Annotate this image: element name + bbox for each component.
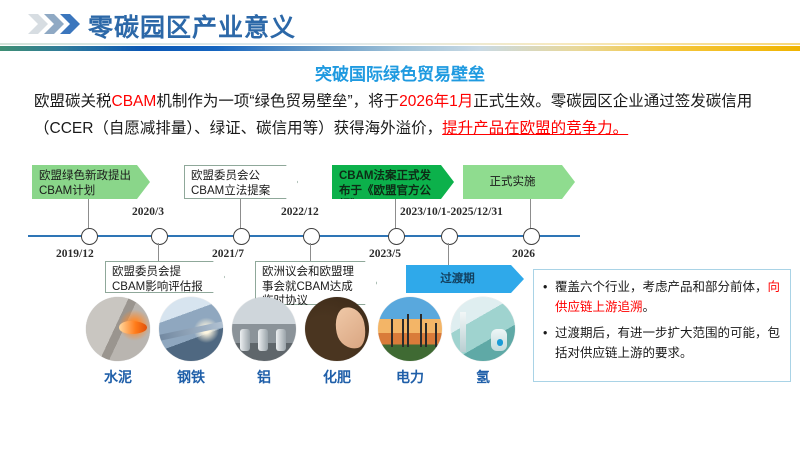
industry-label: 铝 — [222, 367, 306, 387]
timeline-stem — [395, 199, 396, 228]
timeline-callout-above[interactable]: 欧盟绿色新政提出CBAM计划 — [32, 165, 150, 199]
industry-item-fertilizer[interactable]: 化肥 — [305, 297, 369, 361]
bullet-text: 过渡期后，有进一步扩大范围的可能，包括对供应链上游的要求。 — [555, 323, 781, 363]
power-photo-icon — [378, 297, 442, 361]
timeline-node[interactable] — [441, 228, 458, 245]
timeline-stem — [158, 243, 159, 261]
header-divider-thin — [0, 43, 800, 45]
fertilizer-photo-icon — [305, 297, 369, 361]
industry-label: 水泥 — [76, 367, 160, 387]
page-title: 零碳园区产业意义 — [88, 8, 296, 44]
timeline-date: 2026 — [512, 248, 535, 260]
industry-item-power[interactable]: 电力 — [378, 297, 442, 361]
timeline-callout-below[interactable]: 过渡期 — [406, 265, 524, 293]
aluminum-photo-icon — [232, 297, 296, 361]
slide-header: 零碳园区产业意义 — [0, 0, 800, 48]
industry-label: 氢 — [441, 367, 525, 387]
timeline-callout-above[interactable]: 欧盟委员会公CBAM立法提案 — [184, 165, 298, 199]
para-segment-3: 机制作为一项“绿色贸易壁垒”，将于 — [156, 93, 399, 110]
timeline-date: 2022/12 — [281, 206, 319, 218]
bullet-text: 覆盖六个行业，考虑产品和部分前体， — [555, 280, 768, 294]
industry-label: 钢铁 — [149, 367, 233, 387]
industry-item-hydrogen[interactable]: 氢 — [451, 297, 515, 361]
timeline-node[interactable] — [151, 228, 168, 245]
timeline-callout-above[interactable]: 正式实施 — [463, 165, 575, 199]
timeline-stem — [240, 199, 241, 228]
industry-label: 化肥 — [295, 367, 379, 387]
timeline-stem — [530, 199, 531, 228]
timeline-node[interactable] — [388, 228, 405, 245]
timeline-date: 2021/7 — [212, 248, 244, 260]
list-item: • 过渡期后，有进一步扩大范围的可能，包括对供应链上游的要求。 — [543, 323, 781, 363]
timeline-node[interactable] — [303, 228, 320, 245]
timeline-node[interactable] — [233, 228, 250, 245]
industry-label: 电力 — [368, 367, 452, 387]
timeline-callout-below[interactable]: 欧盟委员会提CBAM影响评估报告 — [105, 261, 225, 293]
industry-item-steel[interactable]: 钢铁 — [159, 297, 223, 361]
para-highlight-cbam: CBAM — [112, 93, 157, 110]
para-segment-1: 欧盟碳关税 — [34, 93, 112, 110]
timeline-stem — [88, 199, 89, 228]
slide-canvas: 零碳园区产业意义 突破国际绿色贸易壁垒 欧盟碳关税CBAM机制作为一项“绿色贸易… — [0, 0, 800, 450]
timeline-date: 2020/3 — [132, 206, 164, 218]
para-highlight-date: 2026年1月 — [399, 93, 473, 110]
list-item: • 覆盖六个行业，考虑产品和部分前体，向供应链上游追溯。 — [543, 277, 781, 317]
timeline-node[interactable] — [81, 228, 98, 245]
bullet-dot-icon: • — [543, 277, 555, 317]
header-divider — [0, 46, 800, 51]
steel-photo-icon — [159, 297, 223, 361]
timeline-date: 2019/12 — [56, 248, 94, 260]
triple-chevron-right-icon — [28, 12, 80, 36]
timeline-date: 2023/5 — [369, 248, 401, 260]
para-highlight-competitiveness: 提升产品在欧盟的竞争力。 — [442, 120, 628, 137]
hydrogen-photo-icon — [451, 297, 515, 361]
timeline-callout-above[interactable]: CBAM法案正式发布于《欧盟官方公报》 — [332, 165, 454, 199]
cement-photo-icon — [86, 297, 150, 361]
timeline-stem — [448, 243, 449, 265]
industry-item-cement[interactable]: 水泥 — [86, 297, 150, 361]
notes-panel: • 覆盖六个行业，考虑产品和部分前体，向供应链上游追溯。 • 过渡期后，有进一步… — [533, 269, 791, 382]
timeline-node[interactable] — [523, 228, 540, 245]
timeline-date: 2023/10/1-2025/12/31 — [400, 206, 503, 218]
bullet-dot-icon: • — [543, 323, 555, 363]
bullet-tail: 。 — [643, 300, 656, 314]
body-paragraph: 欧盟碳关税CBAM机制作为一项“绿色贸易壁垒”，将于2026年1月正式生效。零碳… — [34, 88, 770, 142]
timeline-stem — [310, 243, 311, 261]
industry-item-aluminum[interactable]: 铝 — [232, 297, 296, 361]
section-subtitle: 突破国际绿色贸易壁垒 — [0, 60, 800, 85]
